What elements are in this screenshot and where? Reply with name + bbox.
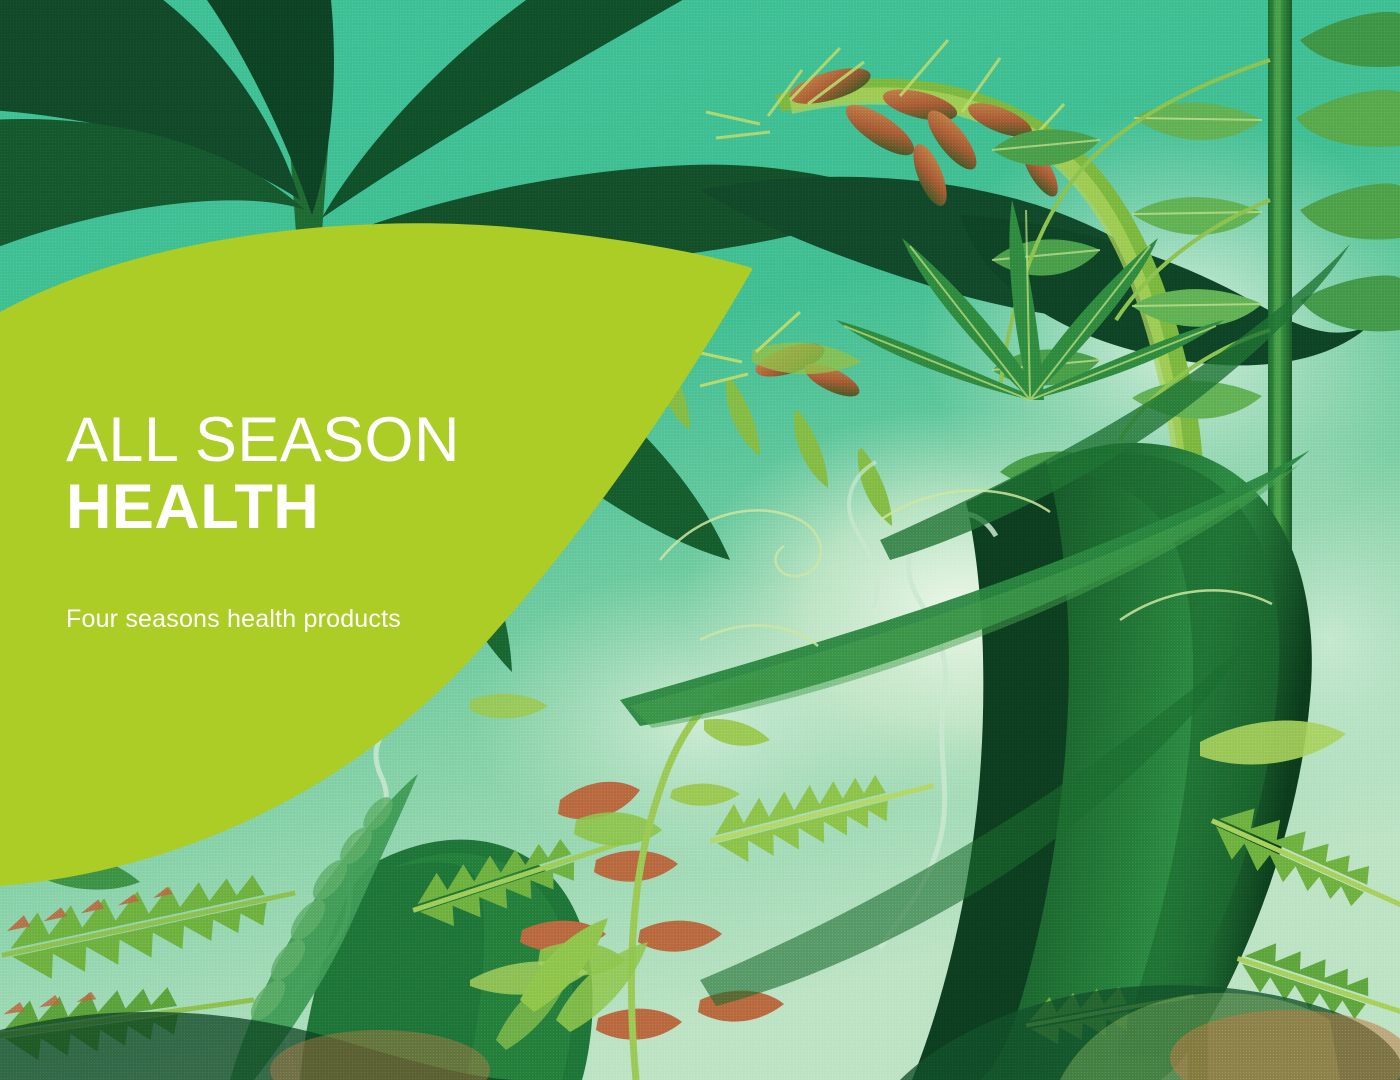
headline-line-2: HEALTH (66, 472, 586, 543)
poster-canvas: ALL SEASON HEALTH Four seasons health pr… (0, 0, 1400, 1080)
subtitle-text: Four seasons health products (66, 605, 586, 634)
headline-line-1: ALL SEASON (66, 408, 586, 472)
headline-block: ALL SEASON HEALTH Four seasons health pr… (66, 408, 586, 634)
